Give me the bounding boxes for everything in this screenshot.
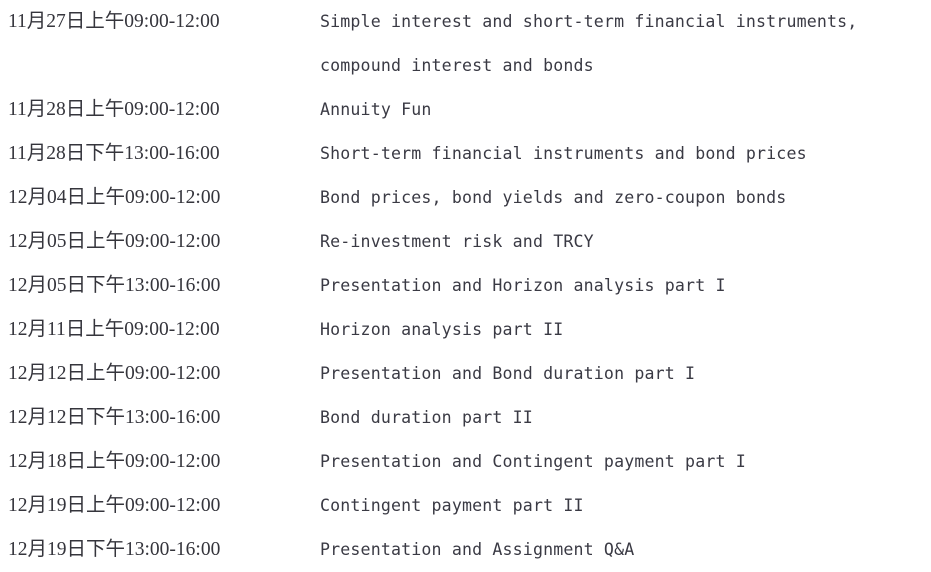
session-topic-line: Contingent payment part II [320, 484, 931, 528]
session-topic: Simple interest and short-term financial… [318, 0, 931, 88]
session-topic: Annuity Fun [318, 88, 931, 132]
session-topic-line: Re-investment risk and TRCY [320, 220, 931, 264]
schedule-row: 11月27日上午09:00-12:00Simple interest and s… [0, 0, 931, 88]
session-topic: Bond duration part II [318, 396, 931, 440]
session-topic-line: Annuity Fun [320, 88, 931, 132]
schedule-row: 12月18日上午09:00-12:00Presentation and Cont… [0, 440, 931, 484]
schedule-row: 12月11日上午09:00-12:00Horizon analysis part… [0, 308, 931, 352]
schedule-row: 12月05日下午13:00-16:00Presentation and Hori… [0, 264, 931, 308]
schedule-row: 12月19日下午13:00-16:00Presentation and Assi… [0, 528, 931, 572]
schedule-body: 11月27日上午09:00-12:00Simple interest and s… [0, 0, 931, 572]
session-topic: Presentation and Bond duration part I [318, 352, 931, 396]
session-datetime: 12月12日下午13:00-16:00 [0, 396, 318, 440]
session-topic: Presentation and Assignment Q&A [318, 528, 931, 572]
session-topic-line: Short-term financial instruments and bon… [320, 132, 931, 176]
session-topic-line: Presentation and Contingent payment part… [320, 440, 931, 484]
session-datetime: 12月19日上午09:00-12:00 [0, 484, 318, 528]
session-topic: Re-investment risk and TRCY [318, 220, 931, 264]
session-topic-line: compound interest and bonds [320, 44, 931, 88]
session-topic: Horizon analysis part II [318, 308, 931, 352]
session-topic-line: Bond prices, bond yields and zero-coupon… [320, 176, 931, 220]
session-datetime: 12月11日上午09:00-12:00 [0, 308, 318, 352]
schedule-row: 12月04日上午09:00-12:00Bond prices, bond yie… [0, 176, 931, 220]
session-topic: Contingent payment part II [318, 484, 931, 528]
session-topic-line: Presentation and Bond duration part I [320, 352, 931, 396]
session-topic-line: Presentation and Assignment Q&A [320, 528, 931, 572]
session-topic-line: Simple interest and short-term financial… [320, 0, 931, 44]
session-topic-line: Horizon analysis part II [320, 308, 931, 352]
session-datetime: 12月18日上午09:00-12:00 [0, 440, 318, 484]
session-datetime: 11月28日上午09:00-12:00 [0, 88, 318, 132]
session-topic: Short-term financial instruments and bon… [318, 132, 931, 176]
session-datetime: 11月28日下午13:00-16:00 [0, 132, 318, 176]
schedule-row: 11月28日下午13:00-16:00Short-term financial … [0, 132, 931, 176]
session-datetime: 12月05日下午13:00-16:00 [0, 264, 318, 308]
schedule-row: 12月12日下午13:00-16:00Bond duration part II [0, 396, 931, 440]
session-datetime: 12月12日上午09:00-12:00 [0, 352, 318, 396]
schedule-row: 12月12日上午09:00-12:00Presentation and Bond… [0, 352, 931, 396]
session-datetime: 11月27日上午09:00-12:00 [0, 0, 318, 88]
schedule-row: 12月05日上午09:00-12:00Re-investment risk an… [0, 220, 931, 264]
session-topic: Presentation and Contingent payment part… [318, 440, 931, 484]
session-topic: Presentation and Horizon analysis part I [318, 264, 931, 308]
schedule-row: 11月28日上午09:00-12:00Annuity Fun [0, 88, 931, 132]
course-schedule-table: 11月27日上午09:00-12:00Simple interest and s… [0, 0, 931, 572]
session-datetime: 12月04日上午09:00-12:00 [0, 176, 318, 220]
schedule-row: 12月19日上午09:00-12:00Contingent payment pa… [0, 484, 931, 528]
session-topic-line: Presentation and Horizon analysis part I [320, 264, 931, 308]
session-datetime: 12月05日上午09:00-12:00 [0, 220, 318, 264]
session-datetime: 12月19日下午13:00-16:00 [0, 528, 318, 572]
session-topic-line: Bond duration part II [320, 396, 931, 440]
session-topic: Bond prices, bond yields and zero-coupon… [318, 176, 931, 220]
